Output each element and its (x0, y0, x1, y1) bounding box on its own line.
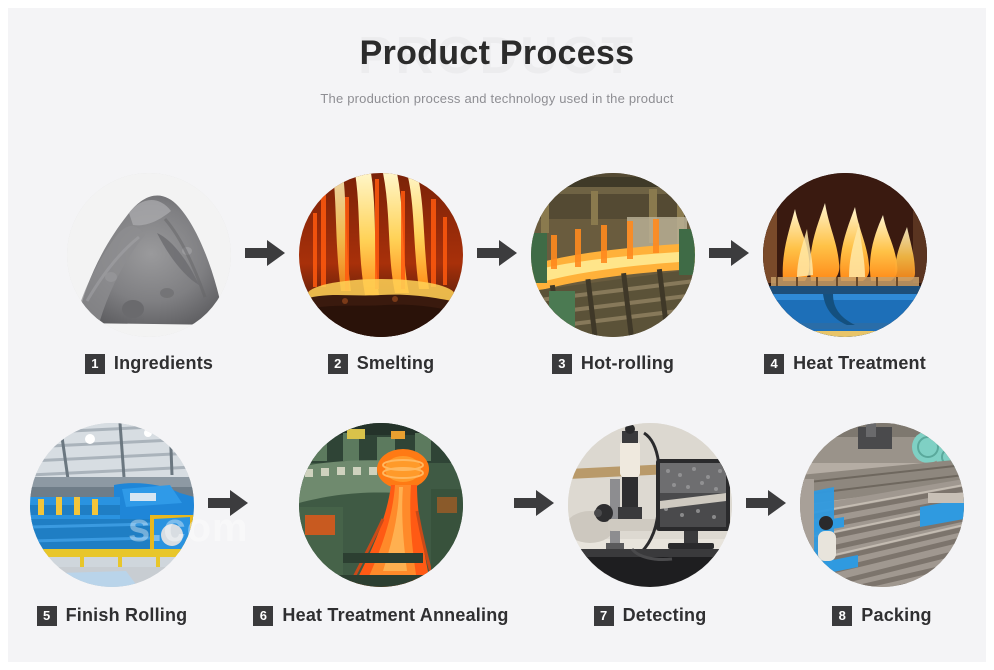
step-number-badge: 8 (832, 606, 852, 626)
step-number-badge: 6 (253, 606, 273, 626)
process-step-3[interactable]: 3 Hot-rolling (525, 173, 701, 374)
arrow-right-icon-2 (469, 173, 525, 333)
step-label: Heat Treatment Annealing (282, 605, 508, 626)
step-label: Hot-rolling (581, 353, 674, 374)
step-caption: 2 Smelting (328, 353, 435, 374)
step-label: Heat Treatment (793, 353, 926, 374)
step-label: Smelting (357, 353, 435, 374)
step-label: Detecting (623, 605, 707, 626)
step-label: Packing (861, 605, 931, 626)
process-step-4[interactable]: 4 Heat Treatment (757, 173, 933, 374)
step-image-ingredients (67, 173, 231, 337)
step-number-badge: 7 (594, 606, 614, 626)
process-step-1[interactable]: 1 Ingredients (61, 173, 237, 374)
step-image-detecting (568, 423, 732, 587)
step-image-annealing (299, 423, 463, 587)
step-number-badge: 2 (328, 354, 348, 374)
step-caption: 1 Ingredients (85, 353, 213, 374)
step-label: Finish Rolling (66, 605, 188, 626)
step-number-badge: 4 (764, 354, 784, 374)
step-caption: 3 Hot-rolling (552, 353, 674, 374)
step-caption: 8 Packing (832, 605, 931, 626)
step-image-packing (800, 423, 964, 587)
step-label: Ingredients (114, 353, 213, 374)
process-step-8[interactable]: 8 Packing (794, 423, 970, 626)
step-image-smelting (299, 173, 463, 337)
process-step-2[interactable]: 2 Smelting (293, 173, 469, 374)
step-image-hot-rolling (531, 173, 695, 337)
arrow-right-icon-5 (506, 423, 562, 583)
process-row-1: 1 Ingredients (8, 173, 986, 374)
page-title: Product Process (8, 34, 986, 73)
arrow-right-icon-6 (738, 423, 794, 583)
step-caption: 5 Finish Rolling (37, 605, 188, 626)
header: PRODUCT Product Process The production p… (8, 8, 986, 106)
arrow-right-icon-4 (200, 423, 256, 583)
step-caption: 4 Heat Treatment (764, 353, 926, 374)
infographic-page: PRODUCT Product Process The production p… (8, 8, 986, 662)
page-subtitle: The production process and technology us… (8, 91, 986, 106)
process-step-5[interactable]: 5 Finish Rolling (24, 423, 200, 626)
step-image-heat-treatment (763, 173, 927, 337)
process-step-7[interactable]: 7 Detecting (562, 423, 738, 626)
step-image-finish-rolling (30, 423, 194, 587)
step-caption: 6 Heat Treatment Annealing (253, 605, 508, 626)
step-number-badge: 1 (85, 354, 105, 374)
process-step-6[interactable]: 6 Heat Treatment Annealing (256, 423, 506, 626)
step-caption: 7 Detecting (594, 605, 707, 626)
step-number-badge: 5 (37, 606, 57, 626)
arrow-right-icon-3 (701, 173, 757, 333)
process-row-2: 5 Finish Rolling (8, 423, 986, 626)
arrow-right-icon-1 (237, 173, 293, 333)
step-number-badge: 3 (552, 354, 572, 374)
